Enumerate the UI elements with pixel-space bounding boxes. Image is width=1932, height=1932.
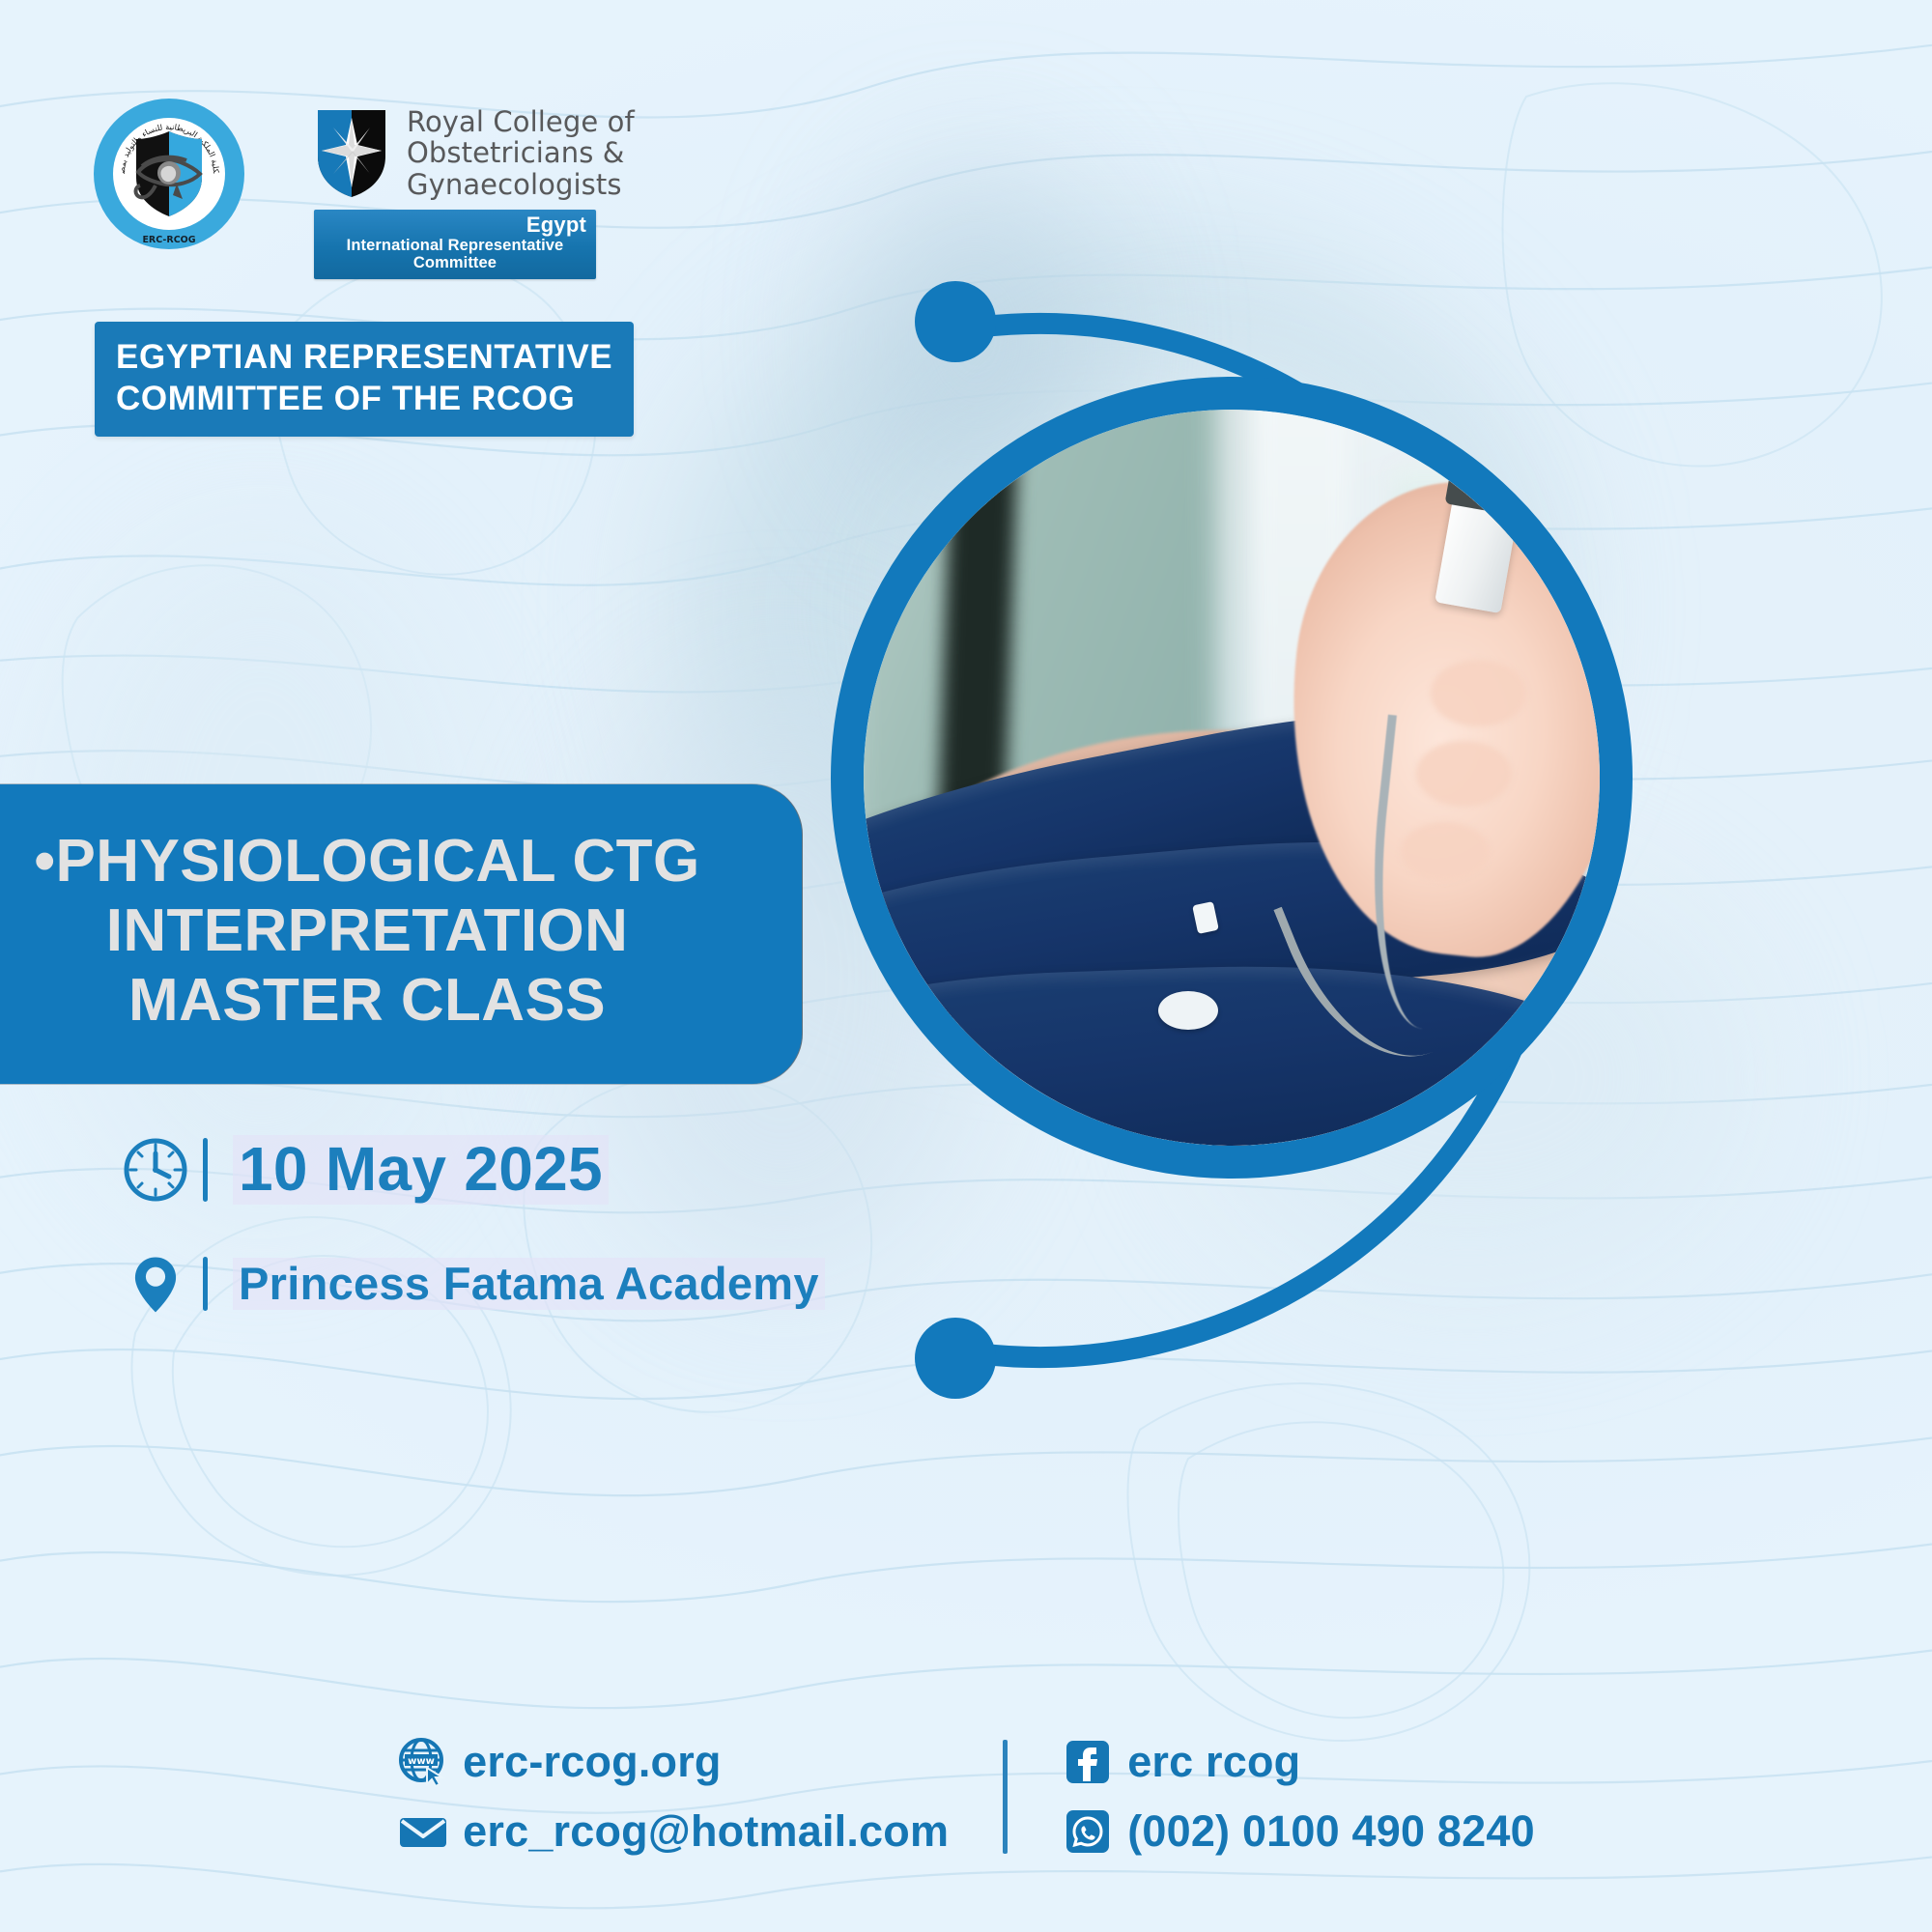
footer-contact-bar: www erc-rcog.org erc_rcog@hotmail.com: [0, 1695, 1932, 1898]
svg-text:www: www: [408, 1756, 435, 1767]
logo-row: الكلية الملكية البريطانية للنساء والتولي…: [92, 97, 635, 279]
location-pin-icon: [116, 1249, 195, 1319]
rcog-shield-icon: [314, 106, 389, 199]
venue-divider: [203, 1257, 208, 1311]
title-line-2: INTERPRETATION: [0, 896, 744, 966]
email-text: erc_rcog@hotmail.com: [463, 1806, 949, 1857]
rcog-line-1: Royal College of: [407, 106, 635, 137]
rcog-line-3: Gynaecologists: [407, 169, 635, 200]
rcog-bar-committee: International Representative Committee: [324, 237, 586, 273]
rcog-line-2: Obstetricians &: [407, 137, 635, 168]
footer-left-column: www erc-rcog.org erc_rcog@hotmail.com: [397, 1736, 949, 1858]
clock-icon: [116, 1135, 195, 1205]
committee-line-1: EGYPTIAN REPRESENTATIVE: [116, 337, 612, 379]
svg-text:ERC-RCOG: ERC-RCOG: [142, 235, 195, 245]
committee-line-2: COMMITTEE OF THE RCOG: [116, 379, 612, 420]
photo-ring-frame: [831, 377, 1633, 1179]
footer-divider: [1003, 1740, 1008, 1854]
whatsapp-icon: [1062, 1805, 1114, 1858]
facebook-text: erc rcog: [1127, 1737, 1300, 1787]
event-venue-row: Princess Fatama Academy: [116, 1249, 825, 1319]
email-row[interactable]: erc_rcog@hotmail.com: [397, 1805, 949, 1858]
event-venue-value: Princess Fatama Academy: [233, 1258, 825, 1311]
arc-dot-top: [915, 281, 996, 362]
rcog-logo-lockup: Royal College of Obstetricians & Gynaeco…: [314, 97, 635, 279]
title-line-3: MASTER CLASS: [0, 966, 744, 1036]
date-divider: [203, 1138, 208, 1202]
event-details-group: 10 May 2025 Princess Fatama Academy: [116, 1135, 825, 1363]
whatsapp-text: (002) 0100 490 8240: [1127, 1806, 1535, 1857]
title-bullet: •: [34, 828, 55, 895]
event-date-row: 10 May 2025: [116, 1135, 825, 1205]
poster-canvas: الكلية الملكية البريطانية للنساء والتولي…: [0, 0, 1932, 1932]
erc-rcog-seal-logo: الكلية الملكية البريطانية للنساء والتولي…: [92, 97, 246, 251]
facebook-row[interactable]: erc rcog: [1062, 1736, 1300, 1788]
committee-banner: EGYPTIAN REPRESENTATIVE COMMITTEE OF THE…: [95, 322, 634, 437]
ctg-monitoring-photo: [864, 410, 1600, 1146]
globe-www-icon: www: [397, 1736, 449, 1788]
facebook-icon: [1062, 1736, 1114, 1788]
footer-right-column: erc rcog (002) 0100 490 8240: [1062, 1736, 1535, 1858]
photo-circle-group: [744, 290, 1845, 1391]
whatsapp-row[interactable]: (002) 0100 490 8240: [1062, 1805, 1535, 1858]
rcog-country-bar: Egypt International Representative Commi…: [314, 210, 596, 279]
title-line-1: PHYSIOLOGICAL CTG: [56, 828, 700, 895]
rcog-bar-country: Egypt: [324, 213, 586, 236]
email-envelope-icon: [397, 1805, 449, 1858]
arc-dot-bottom: [915, 1318, 996, 1399]
event-title-banner: •PHYSIOLOGICAL CTG INTERPRETATION MASTER…: [0, 784, 802, 1084]
website-row[interactable]: www erc-rcog.org: [397, 1736, 721, 1788]
website-text: erc-rcog.org: [463, 1737, 721, 1787]
event-date-value: 10 May 2025: [233, 1135, 609, 1204]
